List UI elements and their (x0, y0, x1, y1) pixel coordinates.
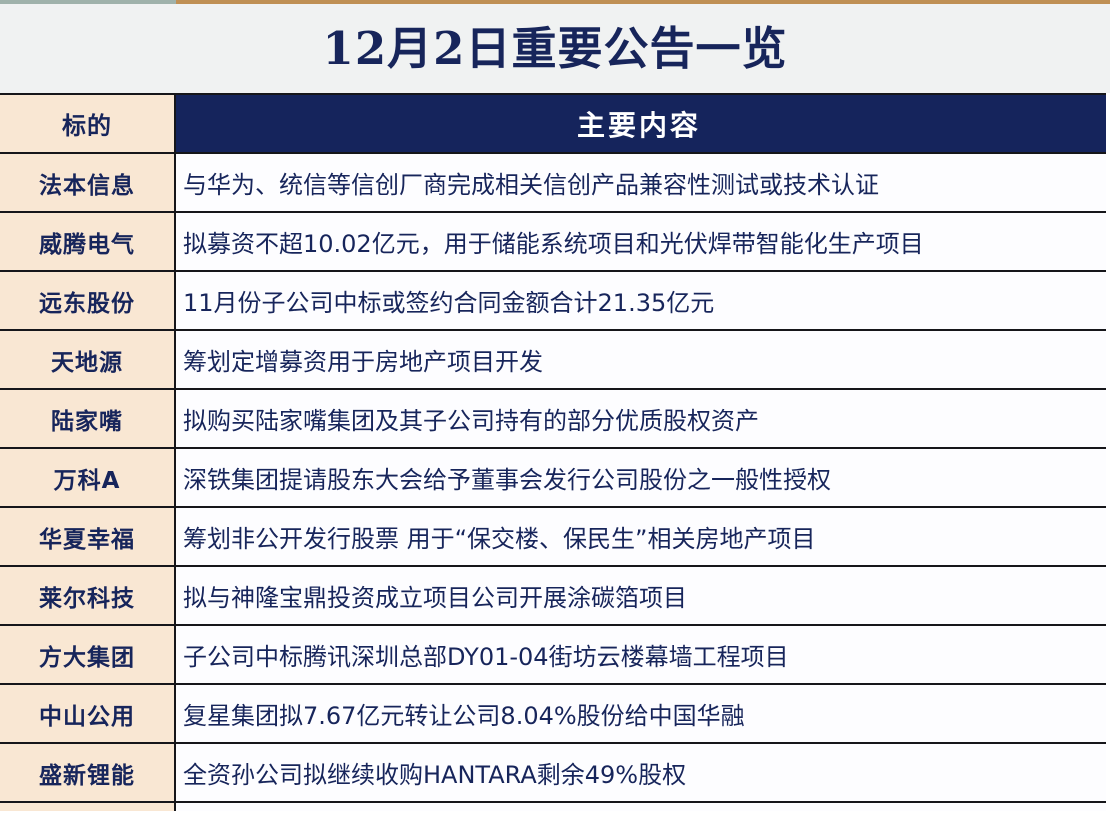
row-symbol: 陆家嘴 (0, 390, 176, 447)
row-symbol: 盛新锂能 (0, 744, 176, 801)
row-content: 与华为、统信等信创厂商完成相关信创产品兼容性测试或技术认证 (176, 154, 1106, 211)
row-content: 11月份子公司中标或签约合同金额合计21.35亿元 (176, 272, 1106, 329)
row-content (176, 803, 1106, 811)
table-row: 法本信息 与华为、统信等信创厂商完成相关信创产品兼容性测试或技术认证 (0, 152, 1106, 212)
row-symbol: 华夏幸福 (0, 508, 176, 565)
row-content: 全资孙公司拟继续收购HANTARA剩余49%股权 (176, 744, 1106, 801)
column-header-content: 主要内容 (176, 95, 1106, 152)
row-content: 拟募资不超10.02亿元，用于储能系统项目和光伏焊带智能化生产项目 (176, 213, 1106, 270)
row-content: 复星集团拟7.67亿元转让公司8.04%股份给中国华融 (176, 685, 1106, 742)
row-symbol: 中山公用 (0, 685, 176, 742)
row-content: 拟购买陆家嘴集团及其子公司持有的部分优质股权资产 (176, 390, 1106, 447)
row-content: 深铁集团提请股东大会给予董事会发行公司股份之一般性授权 (176, 449, 1106, 506)
row-symbol: 万科A (0, 449, 176, 506)
table-row: 威腾电气 拟募资不超10.02亿元，用于储能系统项目和光伏焊带智能化生产项目 (0, 211, 1106, 271)
table-row: 华夏幸福 筹划非公开发行股票 用于“保交楼、保民生”相关房地产项目 (0, 506, 1106, 566)
row-symbol (0, 803, 176, 811)
row-symbol: 方大集团 (0, 626, 176, 683)
title-banner: 12月2日重要公告一览 (0, 4, 1110, 93)
row-symbol: 远东股份 (0, 272, 176, 329)
table-row: 万科A 深铁集团提请股东大会给予董事会发行公司股份之一般性授权 (0, 447, 1106, 507)
table-row-partial (0, 801, 1106, 811)
row-symbol: 威腾电气 (0, 213, 176, 270)
announcement-table-page: 12月2日重要公告一览 标的 主要内容 法本信息 与华为、统信等信创厂商完成相关… (0, 0, 1110, 822)
table-header-row: 标的 主要内容 (0, 93, 1106, 153)
row-content: 筹划非公开发行股票 用于“保交楼、保民生”相关房地产项目 (176, 508, 1106, 565)
table-row: 方大集团 子公司中标腾讯深圳总部DY01-04街坊云楼幕墙工程项目 (0, 624, 1106, 684)
table-row: 莱尔科技 拟与神隆宝鼎投资成立项目公司开展涂碳箔项目 (0, 565, 1106, 625)
table-row: 陆家嘴 拟购买陆家嘴集团及其子公司持有的部分优质股权资产 (0, 388, 1106, 448)
row-symbol: 莱尔科技 (0, 567, 176, 624)
column-header-symbol: 标的 (0, 95, 176, 152)
table-row: 中山公用 复星集团拟7.67亿元转让公司8.04%股份给中国华融 (0, 683, 1106, 743)
row-content: 拟与神隆宝鼎投资成立项目公司开展涂碳箔项目 (176, 567, 1106, 624)
table-row: 盛新锂能 全资孙公司拟继续收购HANTARA剩余49%股权 (0, 742, 1106, 802)
announcements-table: 标的 主要内容 法本信息 与华为、统信等信创厂商完成相关信创产品兼容性测试或技术… (0, 93, 1110, 822)
row-symbol: 法本信息 (0, 154, 176, 211)
table-row: 天地源 筹划定增募资用于房地产项目开发 (0, 329, 1106, 389)
row-symbol: 天地源 (0, 331, 176, 388)
page-title: 12月2日重要公告一览 (323, 26, 788, 71)
row-content: 筹划定增募资用于房地产项目开发 (176, 331, 1106, 388)
table-row: 远东股份 11月份子公司中标或签约合同金额合计21.35亿元 (0, 270, 1106, 330)
row-content: 子公司中标腾讯深圳总部DY01-04街坊云楼幕墙工程项目 (176, 626, 1106, 683)
